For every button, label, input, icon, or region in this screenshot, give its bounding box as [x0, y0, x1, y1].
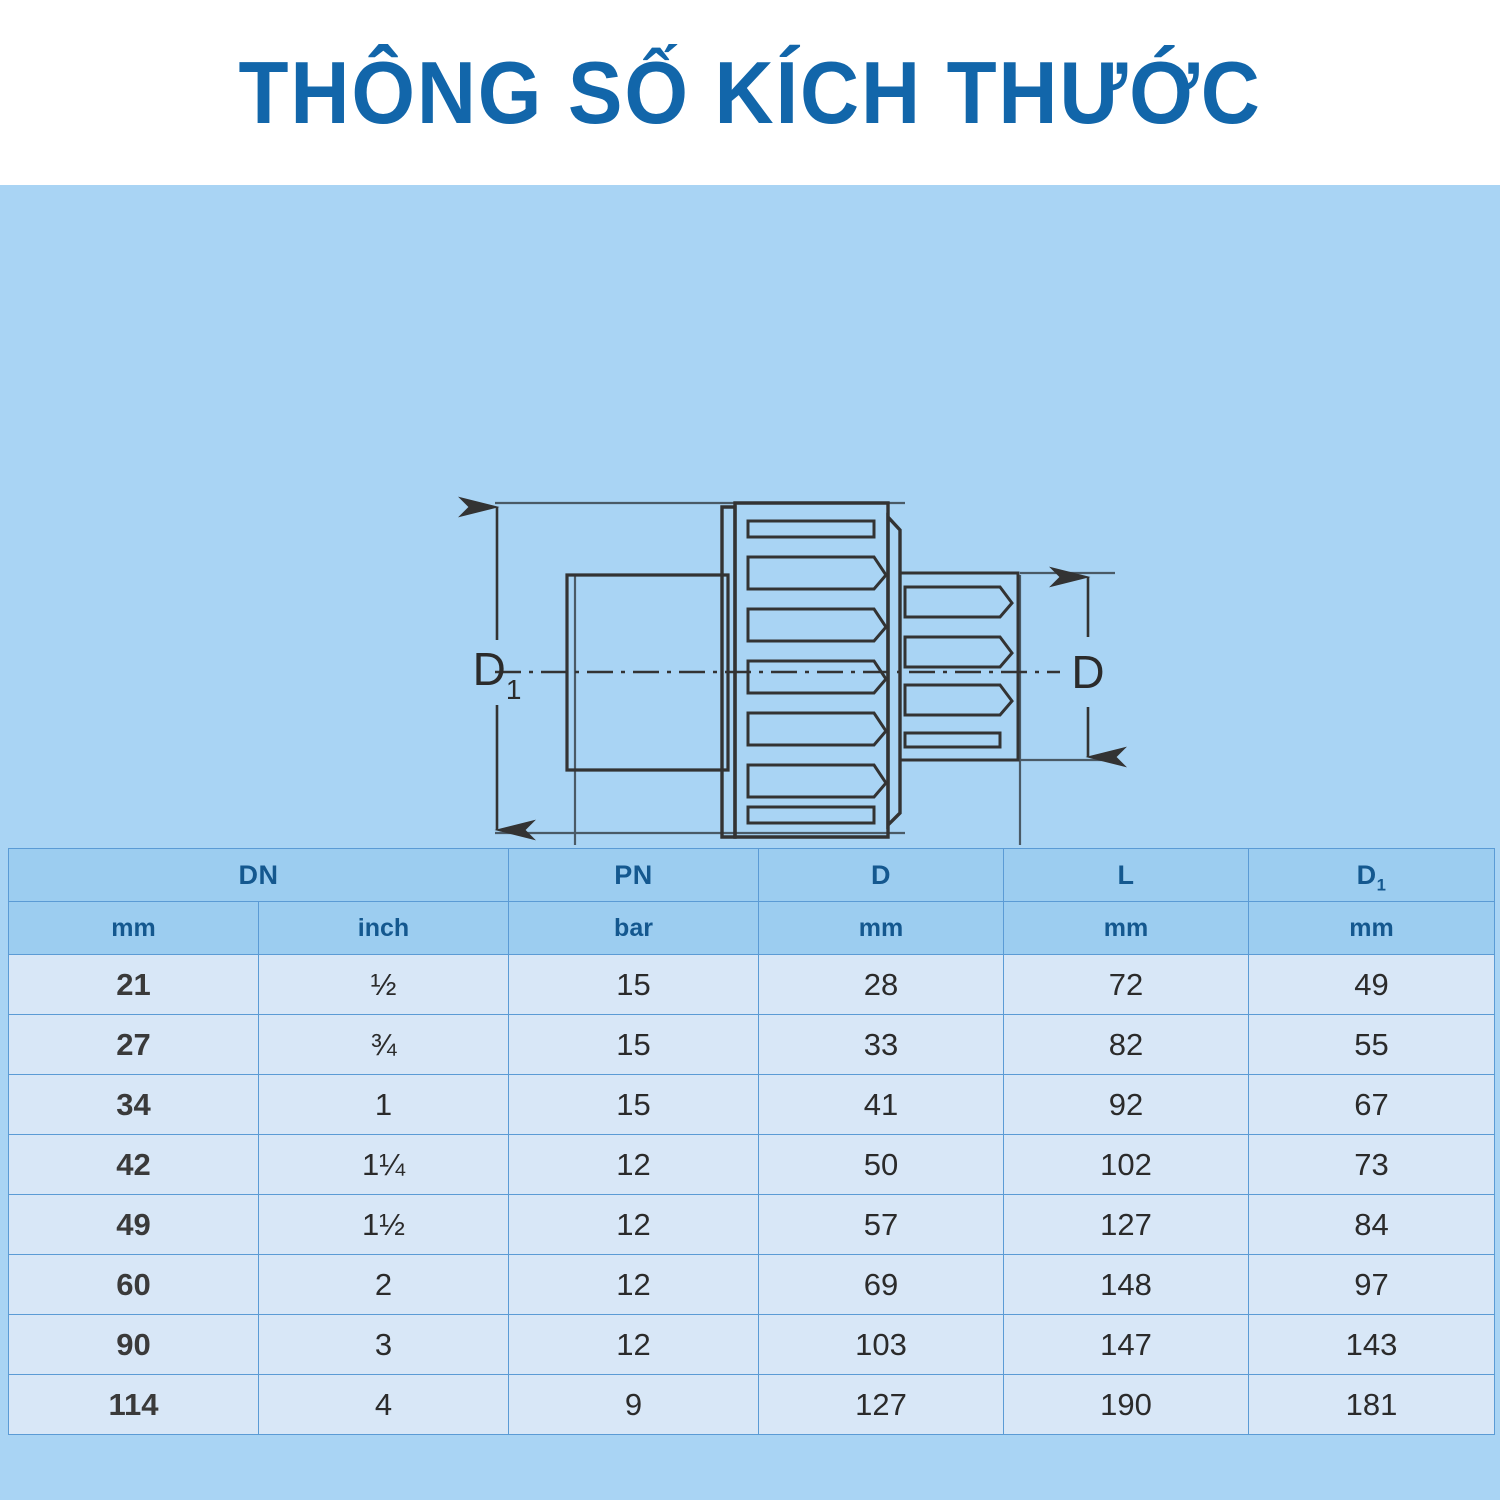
cell-l-mm: 82 [1004, 1015, 1249, 1075]
cell-pn-bar: 12 [509, 1135, 759, 1195]
cell-d-mm: 103 [759, 1315, 1004, 1375]
cell-dn-mm: 49 [9, 1195, 259, 1255]
spec-sheet-page: THÔNG SỐ KÍCH THƯỚC [0, 0, 1500, 1500]
cell-dn-inch: ¾ [259, 1015, 509, 1075]
cell-d1-mm: 49 [1249, 955, 1495, 1015]
cell-l-mm: 102 [1004, 1135, 1249, 1195]
threaded-end [900, 573, 1018, 760]
table-row: 11449127190181 [9, 1375, 1495, 1435]
cell-dn-mm: 90 [9, 1315, 259, 1375]
cell-dn-mm: 34 [9, 1075, 259, 1135]
label-d1: D1 [473, 643, 522, 705]
cell-dn-inch: 3 [259, 1315, 509, 1375]
cell-l-mm: 72 [1004, 955, 1249, 1015]
cell-pn-bar: 12 [509, 1315, 759, 1375]
col-unit-l-mm: mm [1004, 902, 1249, 955]
cell-d-mm: 69 [759, 1255, 1004, 1315]
cell-dn-inch: 2 [259, 1255, 509, 1315]
col-unit-d1-mm: mm [1249, 902, 1495, 955]
cell-dn-mm: 42 [9, 1135, 259, 1195]
cell-d-mm: 50 [759, 1135, 1004, 1195]
table-body: 21½1528724927¾1533825534115419267421¼125… [9, 955, 1495, 1435]
cell-d-mm: 28 [759, 955, 1004, 1015]
cell-dn-inch: 1½ [259, 1195, 509, 1255]
cell-l-mm: 147 [1004, 1315, 1249, 1375]
table-header-unit-row: mm inch bar mm mm mm [9, 902, 1495, 955]
cell-l-mm: 92 [1004, 1075, 1249, 1135]
cell-dn-inch: 4 [259, 1375, 509, 1435]
cell-d1-mm: 143 [1249, 1315, 1495, 1375]
col-group-pn: PN [509, 849, 759, 902]
cell-dn-inch: 1¼ [259, 1135, 509, 1195]
cell-d-mm: 33 [759, 1015, 1004, 1075]
col-unit-dn-mm: mm [9, 902, 259, 955]
cell-d1-mm: 55 [1249, 1015, 1495, 1075]
col-group-d: D [759, 849, 1004, 902]
col-unit-d-mm: mm [759, 902, 1004, 955]
cell-d1-mm: 97 [1249, 1255, 1495, 1315]
cell-l-mm: 148 [1004, 1255, 1249, 1315]
table-row: 27¾15338255 [9, 1015, 1495, 1075]
col-group-l: L [1004, 849, 1249, 902]
table-row: 90312103147143 [9, 1315, 1495, 1375]
extension-lines [495, 503, 1115, 845]
cell-d1-mm: 67 [1249, 1075, 1495, 1135]
title-band: THÔNG SỐ KÍCH THƯỚC [0, 0, 1500, 185]
table-row: 491½125712784 [9, 1195, 1495, 1255]
table-row: 602126914897 [9, 1255, 1495, 1315]
table-row: 21½15287249 [9, 955, 1495, 1015]
cell-dn-mm: 21 [9, 955, 259, 1015]
cell-pn-bar: 12 [509, 1255, 759, 1315]
col-group-dn: DN [9, 849, 509, 902]
cell-dn-mm: 60 [9, 1255, 259, 1315]
cell-d-mm: 41 [759, 1075, 1004, 1135]
cell-pn-bar: 9 [509, 1375, 759, 1435]
cell-d1-mm: 84 [1249, 1195, 1495, 1255]
label-d: D [1071, 646, 1104, 698]
cell-pn-bar: 15 [509, 955, 759, 1015]
cell-d1-mm: 181 [1249, 1375, 1495, 1435]
col-group-d1: D1 [1249, 849, 1495, 902]
cell-l-mm: 190 [1004, 1375, 1249, 1435]
table-row: 34115419267 [9, 1075, 1495, 1135]
table-row: 421¼125010273 [9, 1135, 1495, 1195]
dimension-spec-table: DN PN D L D1 mm inch bar mm mm mm 21½152… [8, 848, 1495, 1435]
table-header-group-row: DN PN D L D1 [9, 849, 1495, 902]
cell-pn-bar: 12 [509, 1195, 759, 1255]
cell-dn-inch: 1 [259, 1075, 509, 1135]
cell-d-mm: 57 [759, 1195, 1004, 1255]
cell-dn-mm: 114 [9, 1375, 259, 1435]
diagram-panel: D1 D L [0, 185, 1500, 845]
cell-l-mm: 127 [1004, 1195, 1249, 1255]
col-unit-dn-inch: inch [259, 902, 509, 955]
spec-table-panel: DN PN D L D1 mm inch bar mm mm mm 21½152… [0, 845, 1500, 1500]
cell-dn-mm: 27 [9, 1015, 259, 1075]
cell-d1-mm: 73 [1249, 1135, 1495, 1195]
cell-dn-inch: ½ [259, 955, 509, 1015]
cell-pn-bar: 15 [509, 1075, 759, 1135]
table-header: DN PN D L D1 mm inch bar mm mm mm [9, 849, 1495, 955]
col-unit-pn-bar: bar [509, 902, 759, 955]
cell-pn-bar: 15 [509, 1015, 759, 1075]
cell-d-mm: 127 [759, 1375, 1004, 1435]
page-title: THÔNG SỐ KÍCH THƯỚC [238, 49, 1261, 137]
technical-drawing: D1 D L [0, 185, 1500, 845]
